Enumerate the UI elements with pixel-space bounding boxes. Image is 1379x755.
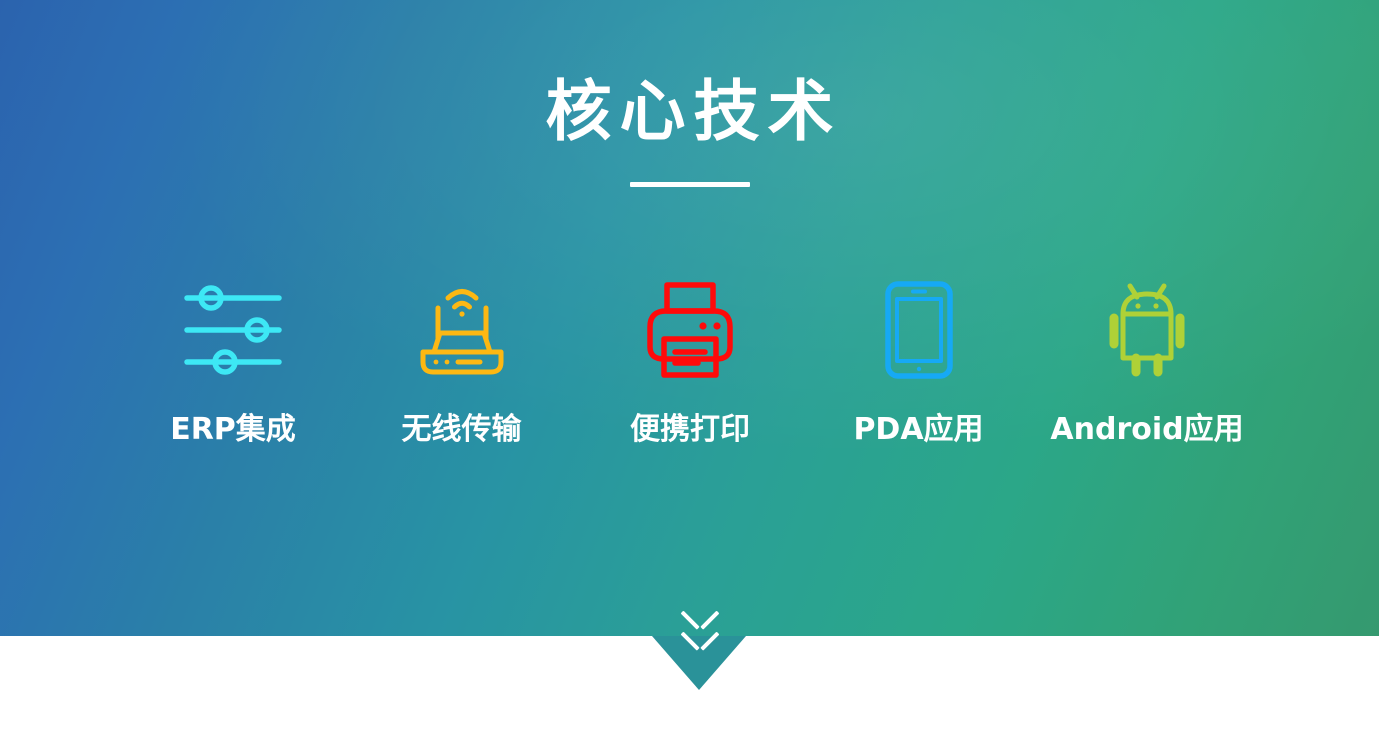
wireless-router-icon	[416, 278, 508, 382]
feature-item-pda-application[interactable]: PDA应用	[821, 278, 1017, 448]
double-chevron-down-icon[interactable]	[652, 608, 747, 647]
printer-icon	[646, 278, 734, 382]
feature-label: 无线传输	[402, 404, 522, 448]
feature-item-android-application[interactable]: Android应用	[1049, 278, 1245, 448]
sliders-icon	[183, 278, 283, 382]
page-title: 核心技术	[0, 76, 1379, 147]
feature-item-portable-printing[interactable]: 便携打印	[592, 278, 788, 448]
feature-label: 便携打印	[630, 404, 750, 448]
feature-label: PDA应用	[853, 404, 983, 448]
chevron-down-icon	[682, 629, 718, 647]
feature-item-erp-integration[interactable]: ERP集成	[135, 278, 331, 448]
hero-section: 核心技术	[0, 0, 1379, 636]
title-divider	[630, 182, 750, 187]
page-root: 核心技术	[0, 0, 1379, 755]
scroll-down-tab[interactable]	[652, 636, 747, 690]
feature-list: ERP集成	[135, 278, 1245, 448]
feature-label: Android应用	[1050, 404, 1243, 448]
tablet-device-icon	[885, 278, 953, 382]
feature-item-wireless-transmission[interactable]: 无线传输	[364, 278, 560, 448]
feature-label: ERP集成	[170, 404, 296, 448]
page-title-block: 核心技术	[0, 76, 1379, 187]
android-robot-icon	[1107, 278, 1187, 382]
chevron-down-icon	[682, 608, 718, 626]
